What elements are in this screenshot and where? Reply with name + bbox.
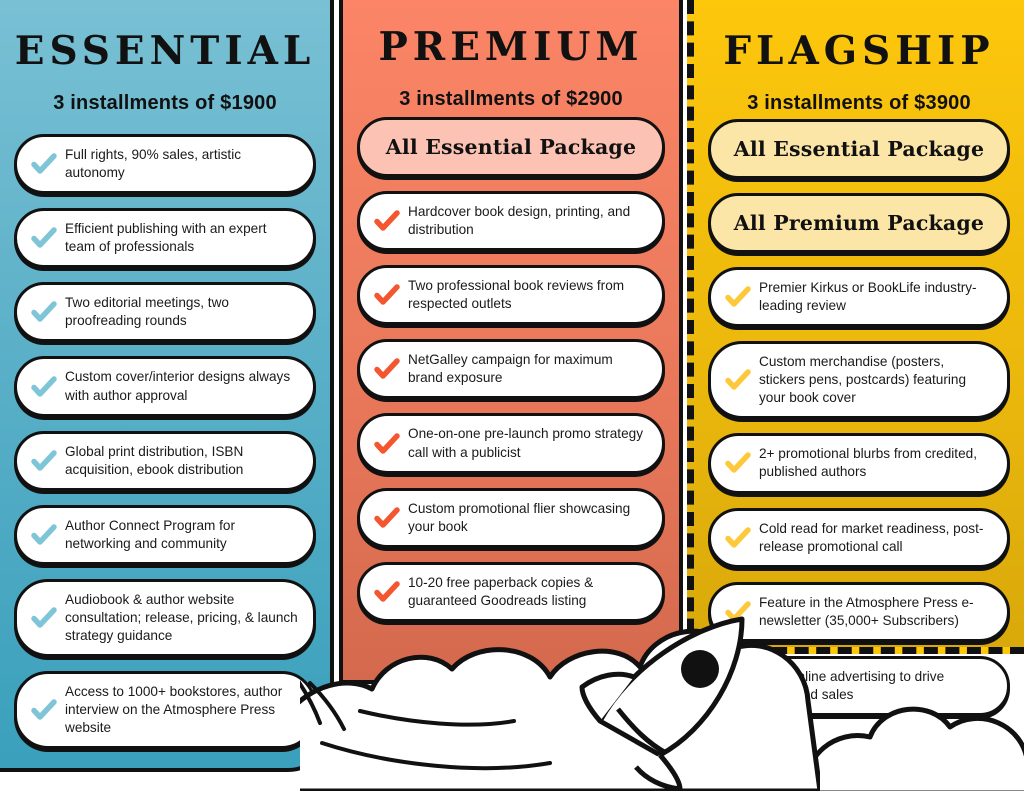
plan-title-premium: PREMIUM	[357, 0, 665, 67]
list-item[interactable]: 2+ promotional blurbs from credited, pub…	[708, 433, 1010, 493]
plan-price-flagship: 3 installments of $3900	[708, 92, 1010, 115]
check-icon	[29, 299, 59, 325]
plan-title-flagship: FLAGSHIP	[708, 0, 1010, 71]
list-item[interactable]: Two editorial meetings, two proofreading…	[14, 282, 316, 342]
check-icon	[372, 356, 402, 382]
list-item[interactable]: Efficient publishing with an expert team…	[14, 208, 316, 268]
feature-text: One-on-one pre-launch promo strategy cal…	[408, 425, 648, 461]
list-item[interactable]: Hardcover book design, printing, and dis…	[357, 191, 665, 251]
feature-text: Audiobook & author website consultation;…	[65, 591, 299, 645]
list-item[interactable]: Premier Kirkus or BookLife industry-lead…	[708, 267, 1010, 327]
feature-text: Custom promotional flier showcasing your…	[408, 500, 648, 536]
feature-text: Full rights, 90% sales, artistic autonom…	[65, 146, 299, 182]
plan-price-premium: 3 installments of $2900	[357, 88, 665, 111]
check-icon	[372, 505, 402, 531]
check-icon	[372, 208, 402, 234]
feature-list-essential: Full rights, 90% sales, artistic autonom…	[14, 134, 316, 763]
list-item[interactable]: Full rights, 90% sales, artistic autonom…	[14, 134, 316, 194]
feature-text: Two professional book reviews from respe…	[408, 277, 648, 313]
feature-text: Premier Kirkus or BookLife industry-lead…	[759, 279, 993, 315]
check-icon	[29, 522, 59, 548]
list-item[interactable]: Audiobook & author website consultation;…	[14, 579, 316, 657]
plan-price-essential: 3 installments of $1900	[14, 92, 316, 115]
pricing-comparison-poster: ESSENTIAL 3 installments of $1900 Full r…	[0, 0, 1024, 791]
check-icon	[29, 448, 59, 474]
list-item[interactable]: NetGalley campaign for maximum brand exp…	[357, 339, 665, 399]
feature-text: Hardcover book design, printing, and dis…	[408, 203, 648, 239]
cloud-icon	[300, 631, 820, 791]
feature-text: 2+ promotional blurbs from credited, pub…	[759, 445, 993, 481]
list-item[interactable]: Two professional book reviews from respe…	[357, 265, 665, 325]
check-icon	[723, 450, 753, 476]
rocket-cloud-illustration	[300, 591, 820, 791]
package-pill-all-premium[interactable]: All Premium Package	[708, 193, 1010, 253]
list-item[interactable]: Custom merchandise (posters, stickers pe…	[708, 341, 1010, 419]
check-icon	[29, 697, 59, 723]
check-icon	[29, 151, 59, 177]
plan-column-premium: PREMIUM 3 installments of $2900 All Esse…	[339, 0, 683, 684]
check-icon	[29, 225, 59, 251]
list-item[interactable]: Global print distribution, ISBN acquisit…	[14, 431, 316, 491]
check-icon	[29, 605, 59, 631]
check-icon	[372, 282, 402, 308]
feature-text: Custom merchandise (posters, stickers pe…	[759, 353, 993, 407]
list-item[interactable]: Custom promotional flier showcasing your…	[357, 488, 665, 548]
plan-column-essential: ESSENTIAL 3 installments of $1900 Full r…	[0, 0, 334, 772]
plan-column-flagship: FLAGSHIP 3 installments of $3900 All Ess…	[687, 0, 1024, 654]
check-icon	[723, 367, 753, 393]
feature-text: NetGalley campaign for maximum brand exp…	[408, 351, 648, 387]
check-icon	[723, 284, 753, 310]
list-item[interactable]: Author Connect Program for networking an…	[14, 505, 316, 565]
feature-text: Global print distribution, ISBN acquisit…	[65, 443, 299, 479]
feature-text: Access to 1000+ bookstores, author inter…	[65, 683, 299, 737]
rocket-window	[681, 650, 719, 688]
list-item[interactable]: One-on-one pre-launch promo strategy cal…	[357, 413, 665, 473]
check-icon	[29, 374, 59, 400]
feature-text: Two editorial meetings, two proofreading…	[65, 294, 299, 330]
check-icon	[372, 431, 402, 457]
list-item[interactable]: Custom cover/interior designs always wit…	[14, 356, 316, 416]
feature-text: Custom cover/interior designs always wit…	[65, 368, 299, 404]
feature-list-premium: All Essential Package Hardcover book des…	[357, 117, 665, 636]
list-item[interactable]: Access to 1000+ bookstores, author inter…	[14, 671, 316, 749]
feature-text: Efficient publishing with an expert team…	[65, 220, 299, 256]
feature-text: Author Connect Program for networking an…	[65, 517, 299, 553]
check-icon	[723, 525, 753, 551]
package-pill-all-essential[interactable]: All Essential Package	[357, 117, 665, 177]
list-item[interactable]: Cold read for market readiness, post-rel…	[708, 508, 1010, 568]
package-pill-all-essential[interactable]: All Essential Package	[708, 119, 1010, 179]
plan-title-essential: ESSENTIAL	[14, 0, 316, 71]
feature-text: Cold read for market readiness, post-rel…	[759, 520, 993, 556]
